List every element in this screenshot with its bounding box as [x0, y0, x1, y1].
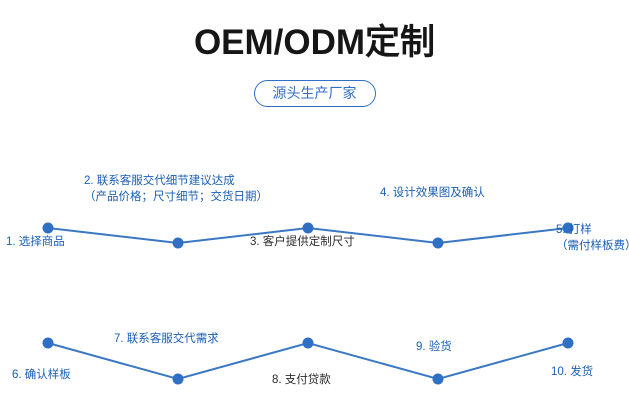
- label-step-6: 6. 确认样板: [12, 368, 71, 384]
- node-step-2: [173, 238, 184, 249]
- node-step-9: [433, 374, 444, 385]
- node-step-6: [43, 338, 54, 349]
- diagram-page: OEM/ODM定制 源头生产厂家 1. 选择商品2. 联系客服交代细节建议达成 …: [0, 0, 629, 414]
- label-step-4: 4. 设计效果图及确认: [380, 186, 485, 202]
- node-step-4: [433, 238, 444, 249]
- label-step-2: 2. 联系客服交代细节建议达成 （产品价格；尺寸细节；交货日期）: [84, 174, 268, 205]
- label-step-10: 10. 发货: [551, 365, 593, 381]
- label-step-7: 7. 联系客服交代需求: [114, 332, 219, 348]
- subtitle-badge: 源头生产厂家: [254, 80, 376, 107]
- subtitle-container: 源头生产厂家: [0, 80, 629, 107]
- node-step-1: [43, 223, 54, 234]
- page-title: OEM/ODM定制: [0, 14, 629, 65]
- label-step-9: 9. 验货: [416, 340, 452, 356]
- node-step-3: [303, 223, 314, 234]
- label-step-8: 8. 支付贷款: [272, 373, 331, 389]
- label-step-1: 1. 选择商品: [6, 235, 65, 251]
- label-step-5: 5. 打样 （需付样板费）: [556, 223, 629, 254]
- node-step-8: [303, 338, 314, 349]
- label-step-3: 3. 客户提供定制尺寸: [250, 235, 355, 251]
- node-step-10: [563, 338, 574, 349]
- node-step-7: [173, 374, 184, 385]
